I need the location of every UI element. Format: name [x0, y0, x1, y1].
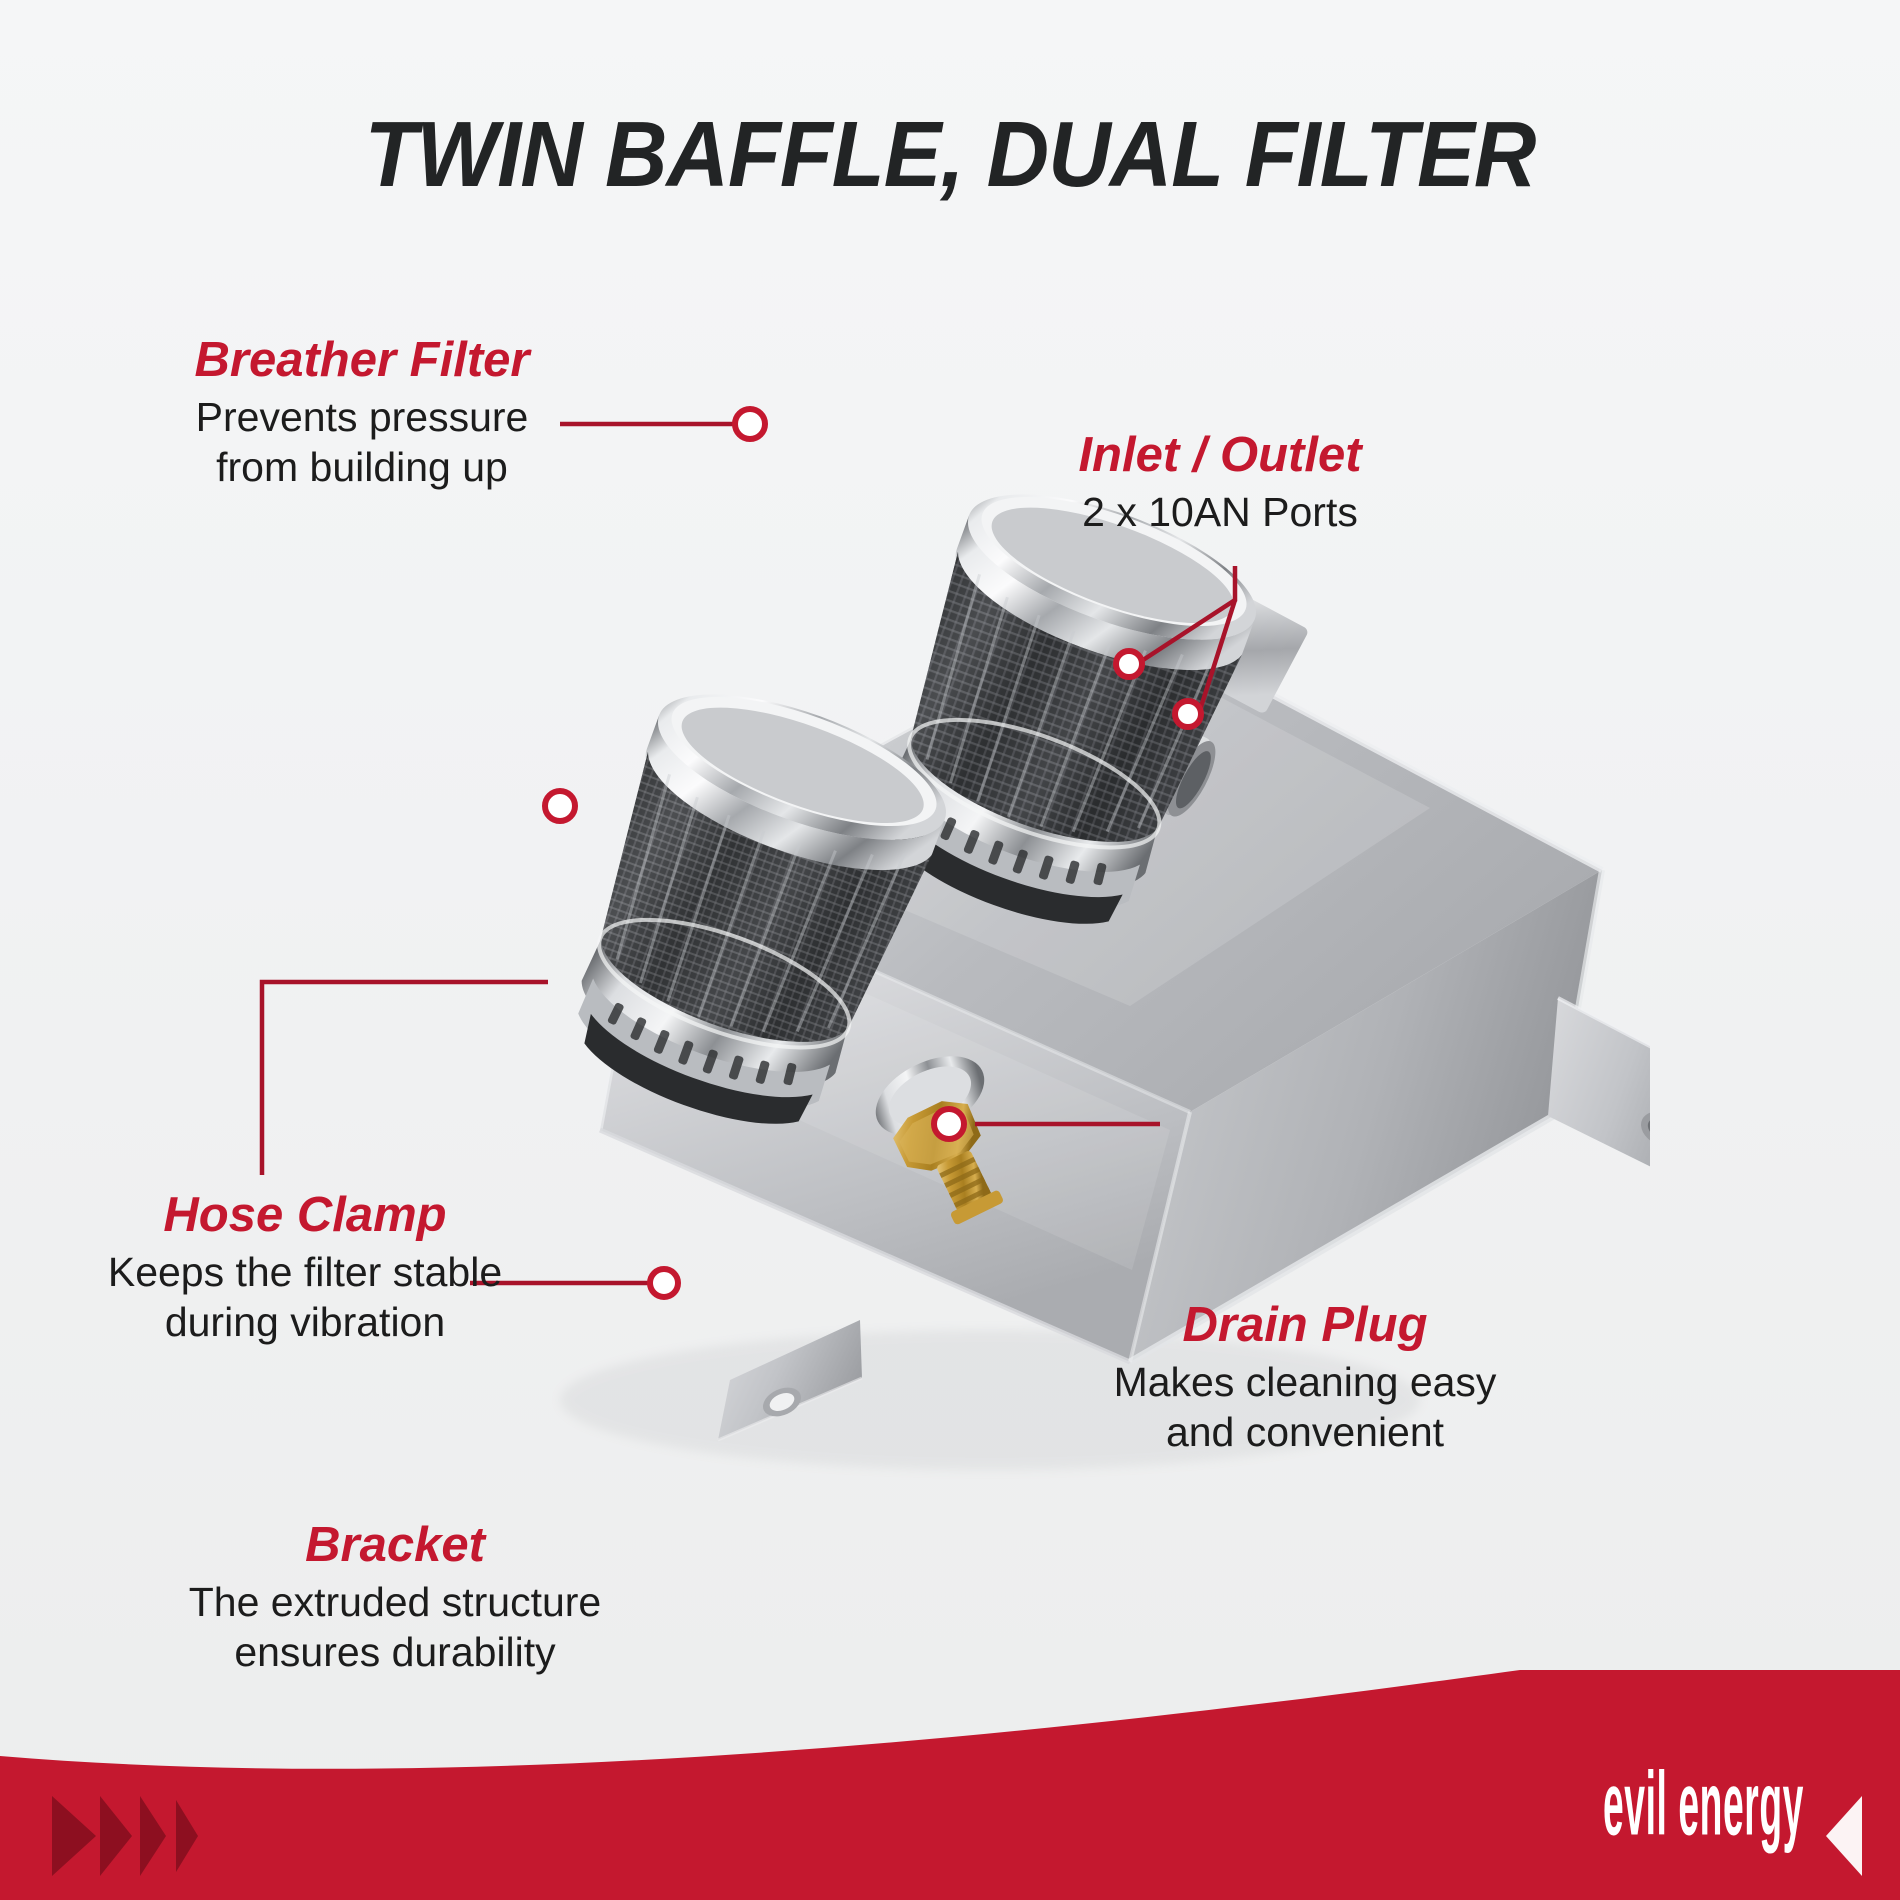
callout-heading-hose: Hose Clamp [40, 1190, 570, 1241]
callout-bracket: Bracket The extruded structure ensures d… [110, 1520, 680, 1677]
callout-drain-plug: Drain Plug Makes cleaning easy and conve… [1050, 1300, 1560, 1457]
callout-body-drain: Makes cleaning easy and convenient [1050, 1357, 1560, 1457]
callout-heading-bracket: Bracket [110, 1520, 680, 1571]
product-image [430, 440, 1650, 1640]
callout-body-breather: Prevents pressure from building up [132, 392, 592, 492]
callout-body-bracket: The extruded structure ensures durabilit… [110, 1577, 680, 1677]
callout-body-hose: Keeps the filter stable during vibration [40, 1247, 570, 1347]
callout-heading-inlet: Inlet / Outlet [1000, 430, 1440, 481]
callout-inlet-outlet: Inlet / Outlet 2 x 10AN Ports [1000, 430, 1440, 537]
page-title: TWIN BAFFLE, DUAL FILTER [67, 108, 1834, 201]
callout-breather-filter: Breather Filter Prevents pressure from b… [132, 335, 592, 492]
callout-body-inlet: 2 x 10AN Ports [1000, 487, 1440, 537]
infographic-canvas: TWIN BAFFLE, DUAL FILTER [0, 0, 1900, 1900]
callout-heading-drain: Drain Plug [1050, 1300, 1560, 1351]
callout-heading-breather: Breather Filter [132, 335, 592, 386]
marker-breather [735, 409, 765, 439]
callout-hose-clamp: Hose Clamp Keeps the filter stable durin… [40, 1190, 570, 1347]
brand-logo: evil energy [1603, 1753, 1804, 1856]
footer-band: evil energy [0, 1670, 1900, 1900]
